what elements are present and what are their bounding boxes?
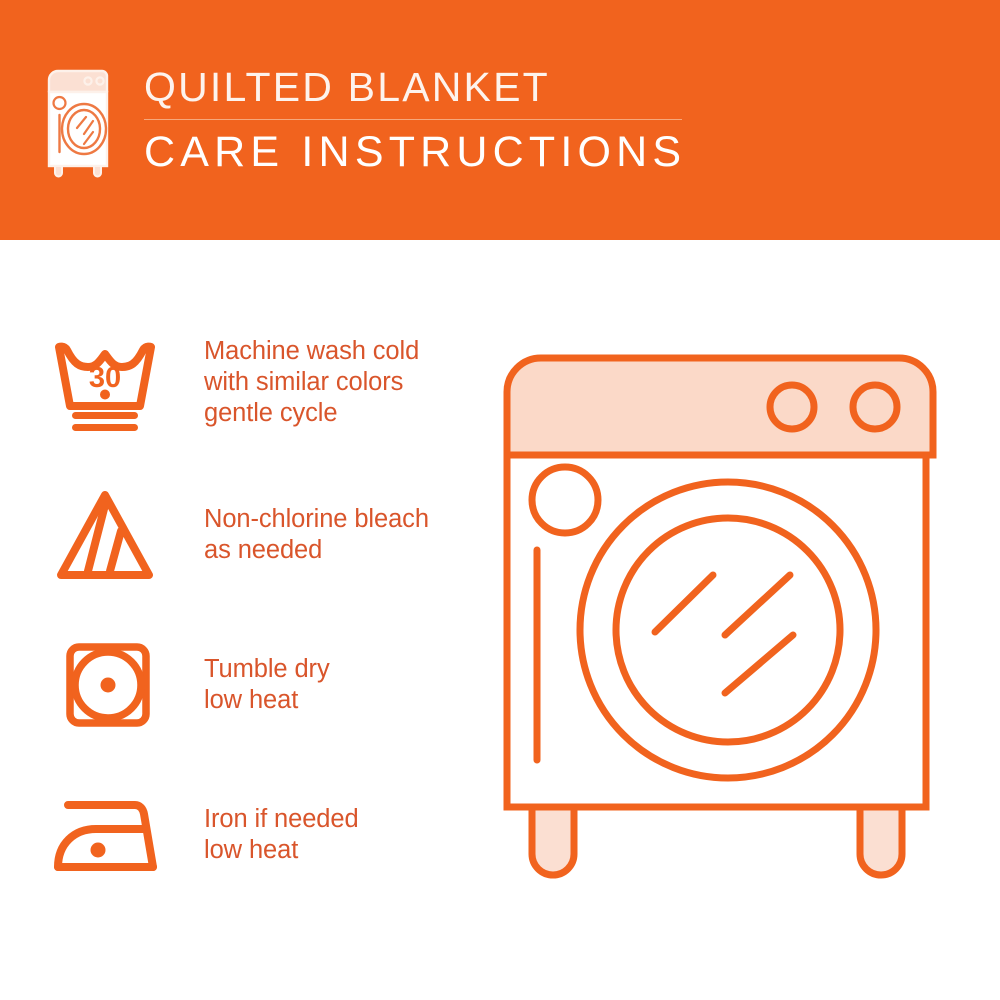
leg-right xyxy=(860,807,902,875)
washing-machine-icon xyxy=(44,66,112,178)
header-title-block: QUILTED BLANKET CARE INSTRUCTIONS xyxy=(144,62,686,176)
care-line: with similar colors xyxy=(204,367,419,398)
machine-body xyxy=(507,455,926,807)
care-line: Tumble dry xyxy=(204,654,330,685)
tumble-dry-icon xyxy=(44,630,166,740)
leg-left xyxy=(532,807,574,875)
care-instruction-item: Iron if needed low heat xyxy=(44,780,474,930)
care-instruction-item: 30 Machine wash cold with similar colors… xyxy=(44,330,474,480)
care-line: Machine wash cold xyxy=(204,336,419,367)
control-panel xyxy=(507,358,933,455)
page-content: 30 Machine wash cold with similar colors… xyxy=(0,240,1000,1000)
page-header: QUILTED BLANKET CARE INSTRUCTIONS xyxy=(0,0,1000,240)
page-title-primary: QUILTED BLANKET xyxy=(144,64,686,110)
care-line: Iron if needed xyxy=(204,804,359,835)
care-instruction-text: Tumble dry low heat xyxy=(204,630,330,716)
care-instruction-text: Non-chlorine bleach as needed xyxy=(204,480,429,566)
header-content: QUILTED BLANKET CARE INSTRUCTIONS xyxy=(44,62,686,178)
care-line: Non-chlorine bleach xyxy=(204,504,429,535)
care-instruction-text: Machine wash cold with similar colors ge… xyxy=(204,330,419,429)
care-instruction-item: Non-chlorine bleach as needed xyxy=(44,480,474,630)
title-divider xyxy=(144,119,682,120)
care-line: low heat xyxy=(204,835,359,866)
page-title-secondary: CARE INSTRUCTIONS xyxy=(144,128,686,176)
care-line: gentle cycle xyxy=(204,398,419,429)
care-instruction-item: Tumble dry low heat xyxy=(44,630,474,780)
care-instruction-list: 30 Machine wash cold with similar colors… xyxy=(44,330,474,930)
wash-temperature-label: 30 xyxy=(89,362,121,394)
care-line: low heat xyxy=(204,685,330,716)
care-line: as needed xyxy=(204,535,429,566)
bleach-triangle-icon xyxy=(44,480,166,590)
care-instruction-text: Iron if needed low heat xyxy=(204,780,359,866)
washing-machine-illustration xyxy=(480,335,980,960)
wash-tub-icon: 30 xyxy=(44,330,166,440)
iron-icon xyxy=(44,780,166,890)
